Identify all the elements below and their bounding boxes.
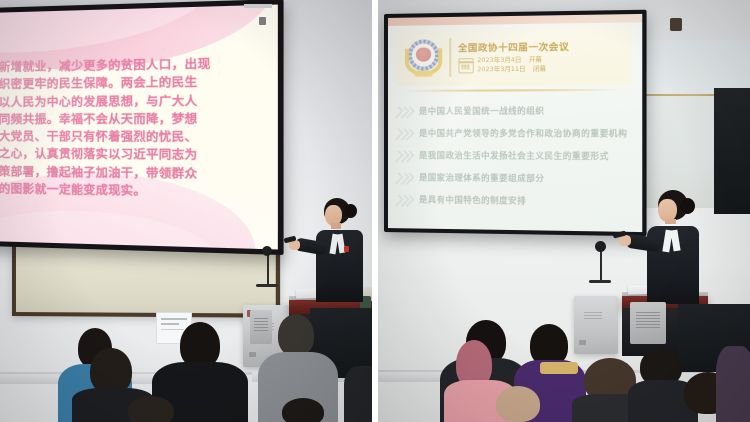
slide-left: 的新增就业，减少更多的贫困人口，出现 ，织密更牢的民生保障。两会上的民生 了以人… — [0, 5, 278, 250]
presenter-hair-bun-left — [344, 204, 357, 218]
slide-header-dates: 2023年3月4日开幕 2023年3月11日闭幕 — [458, 56, 622, 75]
bullet-item: 是中国共产党领导的多党合作和政治协商的重要机构 — [394, 122, 634, 145]
audience-left — [0, 310, 372, 422]
bullet-item: 是国家治理体系的重要组成部分 — [394, 166, 634, 190]
presenter-right — [632, 190, 708, 306]
right-photo-panel: 全国政协十四届一次会议 2023年3月4日开幕 2023年3月11日闭幕 — [378, 0, 750, 422]
slide-left-body: 的新增就业，减少更多的贫困人口，出现 ，织密更牢的民生保障。两会上的民生 了以人… — [0, 54, 271, 202]
triple-chevron-icon — [394, 195, 414, 204]
triple-chevron-icon — [394, 106, 414, 115]
notice-line — [161, 318, 187, 320]
slide-left-line: 盼同频共振。幸福不会从天而降，梦想 — [0, 110, 271, 129]
bullet-text: 是具有中国特色的制度安排 — [419, 193, 526, 206]
notice-line — [161, 329, 183, 331]
microphone-base-left — [256, 284, 278, 287]
presenter-hair-bun-right — [680, 198, 695, 214]
date-row: 2023年3月4日开幕 — [477, 57, 546, 66]
audience-head — [496, 386, 540, 422]
microphone-head-left — [262, 246, 272, 256]
date-event: 开幕 — [529, 57, 542, 64]
equipment-vent-right — [636, 311, 660, 328]
audience-yellow-scarf — [540, 362, 578, 374]
audience-head — [128, 396, 174, 422]
wall-equipment-box-right — [630, 302, 666, 344]
microphone-base-right — [589, 280, 611, 283]
wall-equipment-box-left — [250, 310, 272, 344]
microphone-stem-left — [267, 252, 269, 286]
triple-chevron-icon — [394, 173, 414, 182]
date-value: 2023年3月11日 — [477, 65, 525, 73]
audience-body — [344, 366, 372, 422]
audience-right — [378, 310, 750, 422]
slide-left-line: 民之心，认真贯彻落实以习近平同志为 — [0, 145, 271, 165]
slide-header-title: 全国政协十四届一次会议 — [458, 38, 622, 54]
audience-head — [278, 314, 314, 356]
dates-column: 2023年3月4日开幕 2023年3月11日闭幕 — [477, 57, 546, 75]
slide-header-card: 全国政协十四届一次会议 2023年3月4日开幕 2023年3月11日闭幕 — [396, 27, 632, 86]
bullet-text: 是国家治理体系的重要组成部分 — [419, 171, 544, 184]
screen-mount-bracket-right — [670, 18, 682, 31]
triple-chevron-icon — [394, 129, 414, 138]
left-photo-panel: 的新增就业，减少更多的贫困人口，出现 ，织密更牢的民生保障。两会上的民生 了以人… — [0, 0, 372, 422]
screen-mount-bracket-left — [259, 17, 266, 25]
emblem-ribbon — [414, 70, 433, 76]
slide-bullet-list: 是中国人民爱国统一战线的组织 是中国共产党领导的多党合作和政治协商的重要机构 是… — [394, 99, 634, 213]
bullet-text: 是我国政治生活中发扬社会主义民生的重要形式 — [419, 149, 609, 162]
composite-image: 的新增就业，减少更多的贫困人口，出现 ，织密更牢的民生保障。两会上的民生 了以人… — [0, 0, 750, 422]
slide-left-line: 广大党员、干部只有怀着强烈的忧民、 — [0, 128, 271, 147]
audience-body — [716, 346, 750, 422]
bullet-item: 是我国政治生活中发扬社会主义民生的重要形式 — [394, 144, 634, 168]
triple-chevron-icon — [394, 151, 414, 160]
panel-divider — [372, 0, 378, 422]
date-row: 2023年3月11日闭幕 — [477, 65, 546, 74]
microphone-head-right — [595, 241, 606, 252]
bullet-text: 是中国人民爱国统一战线的组织 — [419, 105, 544, 117]
header-divider — [449, 38, 451, 76]
bullet-item: 是中国人民爱国统一战线的组织 — [394, 99, 634, 122]
projection-screen-right: 全国政协十四届一次会议 2023年3月4日开幕 2023年3月11日闭幕 — [384, 10, 647, 237]
presenter-badge-left — [344, 246, 349, 252]
calendar-icon — [458, 58, 473, 73]
notice-line — [161, 323, 179, 325]
projection-screen-left: 的新增就业，减少更多的贫困人口，出现 ，织密更牢的民生保障。两会上的民生 了以人… — [0, 0, 284, 255]
slide-left-line: ，织密更牢的民生保障。两会上的民生 — [0, 73, 271, 94]
date-event: 闭幕 — [533, 65, 546, 72]
equipment-vent-left — [254, 317, 269, 331]
bullet-item: 是具有中国特色的制度安排 — [394, 188, 634, 213]
ceiling-trim-left — [244, 4, 272, 8]
presenter-left — [300, 196, 370, 306]
audience-head — [282, 398, 324, 422]
cppcc-emblem-icon — [405, 39, 442, 77]
date-value: 2023年3月4日 — [477, 57, 521, 65]
slide-top-band — [388, 14, 642, 26]
bullet-text: 是中国共产党领导的多党合作和政治协商的重要机构 — [419, 127, 627, 140]
slide-right: 全国政协十四届一次会议 2023年3月4日开幕 2023年3月11日闭幕 — [388, 14, 642, 232]
microphone-stem-right — [600, 248, 602, 282]
slide-header-rule — [404, 89, 623, 92]
blackboard-right — [714, 88, 750, 214]
upper-wall-right — [630, 40, 750, 94]
slide-left-line: 了以人民为中心的发展思想，与广大人 — [0, 91, 271, 111]
